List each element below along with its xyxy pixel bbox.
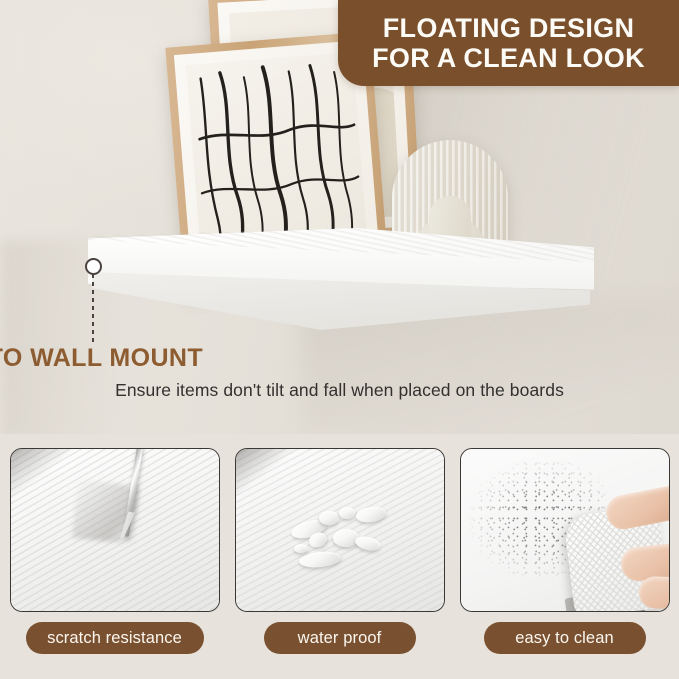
pill-slot-scratch: scratch resistance — [10, 622, 220, 656]
feature-panel-water — [235, 448, 445, 612]
headline-banner: FLOATING DESIGN FOR A CLEAN LOOK — [338, 0, 679, 86]
water-droplet — [294, 544, 308, 553]
feature-label-clean: easy to clean — [484, 622, 646, 654]
feature-panel-row — [0, 448, 679, 616]
feature-callout-text: FLUSH TO WALL MOUNT Ensure items don't t… — [0, 344, 679, 401]
banner-line-2: FOR A CLEAN LOOK — [372, 43, 645, 73]
feature-label-scratch: scratch resistance — [26, 622, 204, 654]
feature-callout-subtitle: Ensure items don't tilt and fall when pl… — [0, 380, 679, 401]
feature-callout-title: FLUSH TO WALL MOUNT — [0, 344, 679, 373]
wipe-clean-photo — [461, 449, 669, 611]
scratch-test-photo — [11, 449, 219, 611]
feature-label-row: scratch resistance water proof easy to c… — [0, 622, 679, 656]
water-droplet — [353, 534, 381, 553]
feature-panel-scratch — [10, 448, 220, 612]
water-droplet — [319, 511, 339, 525]
callout-leader-line — [92, 274, 94, 346]
water-droplet — [333, 529, 359, 547]
pill-slot-clean: easy to clean — [460, 622, 670, 656]
pill-slot-water: water proof — [235, 622, 445, 656]
water-droplet — [355, 505, 387, 525]
banner-line-1: FLOATING DESIGN — [383, 13, 635, 43]
water-droplet — [339, 507, 355, 519]
feature-label-water: water proof — [264, 622, 416, 654]
water-beading-photo — [236, 449, 444, 611]
flush-mount-marker-icon — [85, 258, 102, 275]
feature-panel-clean — [460, 448, 670, 612]
water-droplet — [298, 550, 341, 569]
